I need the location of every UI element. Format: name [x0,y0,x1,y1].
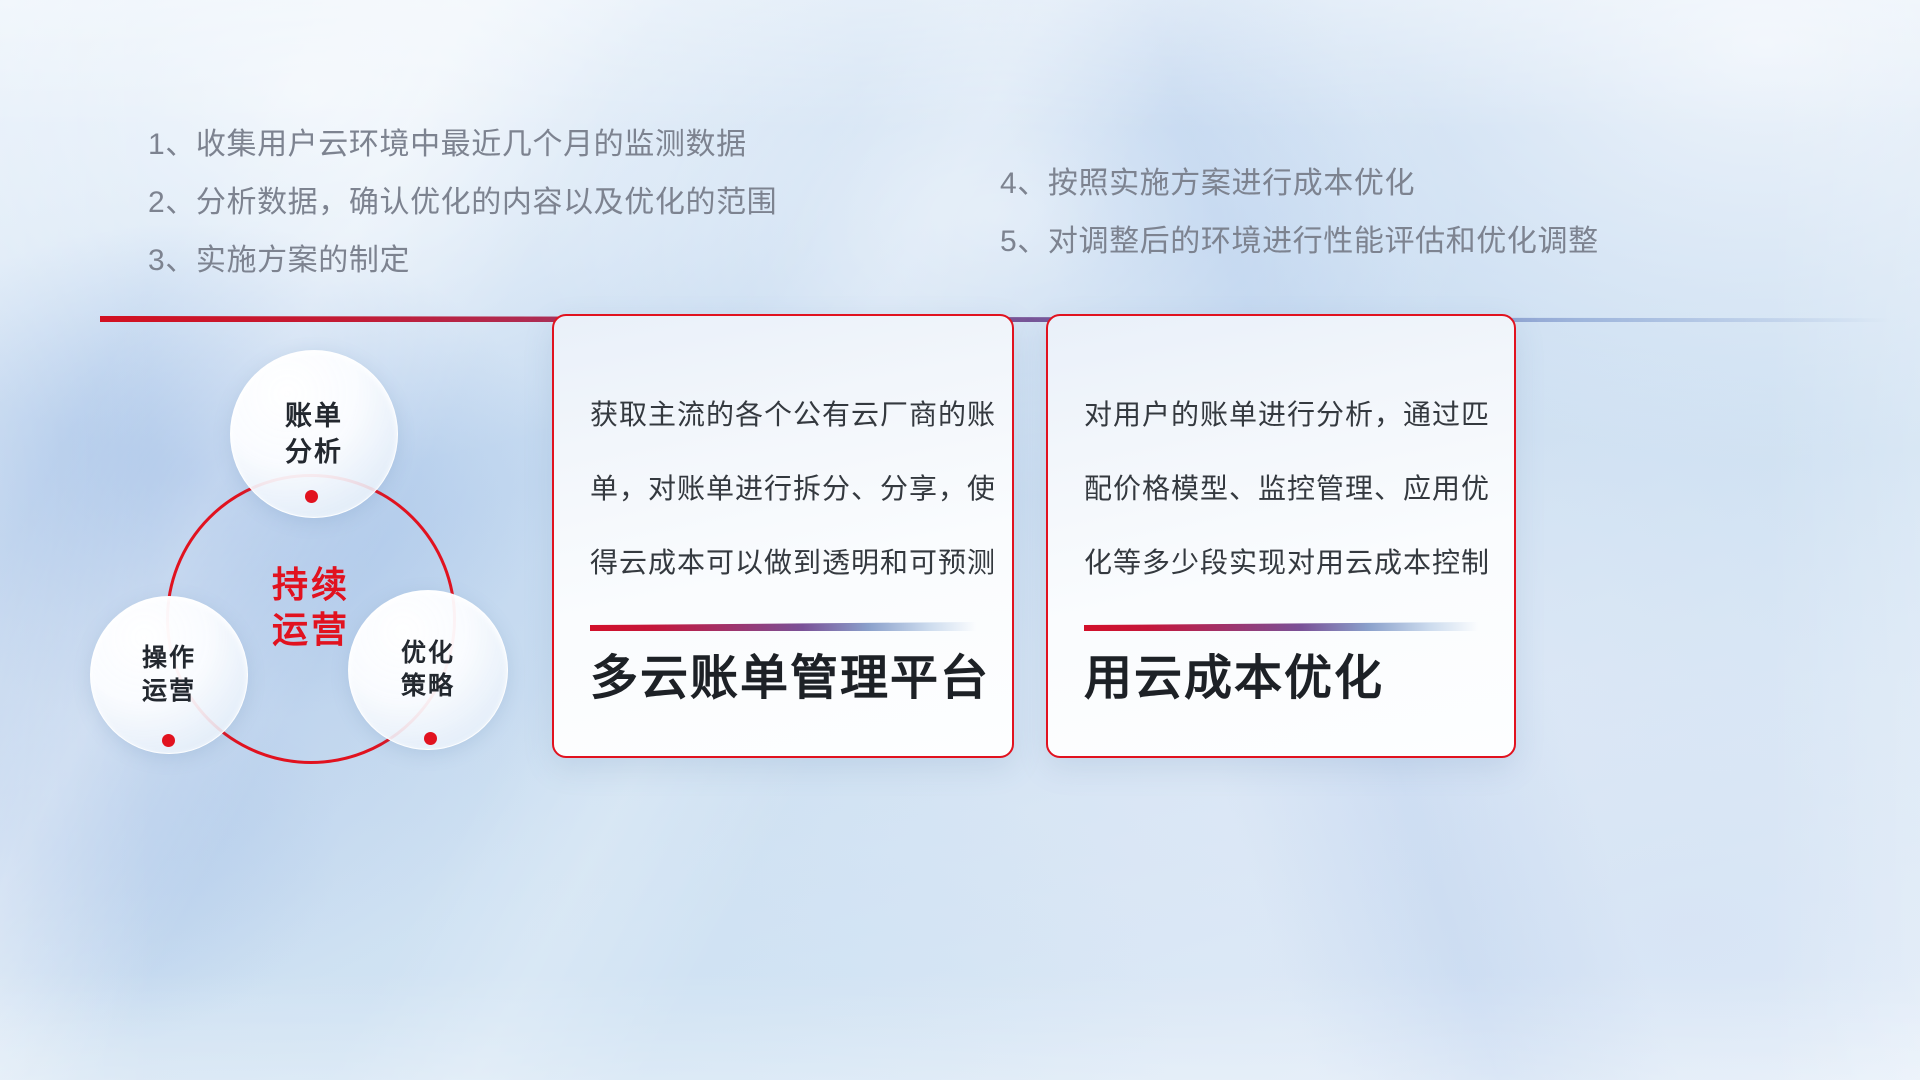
card-content: 对用户的账单进行分析，通过匹 配价格模型、监控管理、应用优 化等多少段实现对用云… [1048,316,1514,756]
diagram-connector-dot-left [162,734,175,747]
card-multi-cloud-billing-platform[interactable]: 获取主流的各个公有云厂商的账 单，对账单进行拆分、分享，使 得云成本可以做到透明… [552,314,1014,758]
step-item: 3、实施方案的制定 [148,232,777,290]
node-label-line1: 优化 [401,637,455,670]
node-label-line2: 策略 [401,670,455,703]
card-body-line: 获取主流的各个公有云厂商的账 [590,378,976,452]
center-label-line1: 持续 [241,562,381,607]
diagram-node-operations[interactable]: 操作 运营 [90,596,248,754]
card-gradient-rule-icon [590,622,976,631]
card-gradient-rule-icon [1084,622,1478,631]
steps-right-column: 4、按照实施方案进行成本优化 5、对调整后的环境进行性能评估和优化调整 [1000,155,1599,271]
node-label-line2: 分析 [285,434,343,470]
node-label-line1: 账单 [285,398,343,434]
card-body-text: 对用户的账单进行分析，通过匹 配价格模型、监控管理、应用优 化等多少段实现对用云… [1084,378,1478,600]
step-item: 5、对调整后的环境进行性能评估和优化调整 [1000,213,1599,271]
steps-list-section: 1、收集用户云环境中最近几个月的监测数据 2、分析数据，确认优化的内容以及优化的… [0,0,1920,260]
card-title: 用云成本优化 [1084,638,1478,708]
card-cloud-cost-optimization[interactable]: 对用户的账单进行分析，通过匹 配价格模型、监控管理、应用优 化等多少段实现对用云… [1046,314,1516,758]
diagram-connector-dot-right [424,732,437,745]
steps-left-column: 1、收集用户云环境中最近几个月的监测数据 2、分析数据，确认优化的内容以及优化的… [148,116,777,290]
card-body-line: 配价格模型、监控管理、应用优 [1084,452,1478,526]
diagram-center-label: 持续 运营 [241,562,381,652]
center-label-line2: 运营 [241,607,381,652]
card-body-line: 化等多少段实现对用云成本控制 [1084,526,1478,600]
node-label-line1: 操作 [142,642,196,675]
continuous-operation-diagram: 账单 分析 操作 运营 优化 策略 持续 运营 [90,350,610,910]
node-label-line2: 运营 [142,675,196,708]
diagram-connector-dot-top [305,490,318,503]
card-title: 多云账单管理平台 [590,638,976,708]
step-item: 4、按照实施方案进行成本优化 [1000,155,1599,213]
step-item: 1、收集用户云环境中最近几个月的监测数据 [148,116,777,174]
card-body-line: 对用户的账单进行分析，通过匹 [1084,378,1478,452]
step-item: 2、分析数据，确认优化的内容以及优化的范围 [148,174,777,232]
card-body-line: 得云成本可以做到透明和可预测 [590,526,976,600]
card-body-text: 获取主流的各个公有云厂商的账 单，对账单进行拆分、分享，使 得云成本可以做到透明… [590,378,976,600]
card-body-line: 单，对账单进行拆分、分享，使 [590,452,976,526]
card-content: 获取主流的各个公有云厂商的账 单，对账单进行拆分、分享，使 得云成本可以做到透明… [554,316,1012,756]
